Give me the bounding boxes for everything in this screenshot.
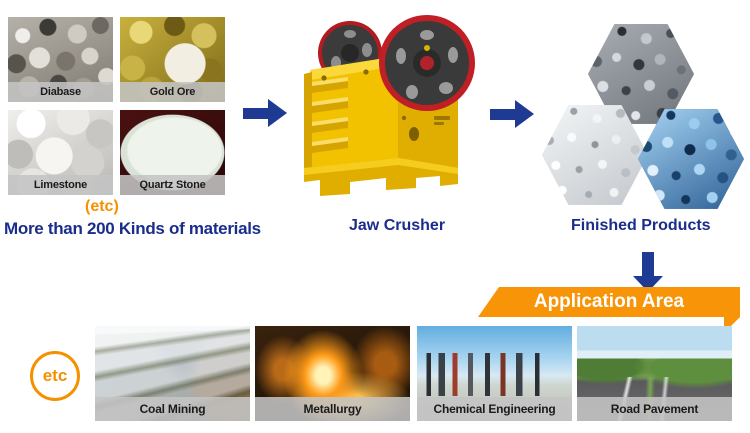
- arrow-head: [515, 100, 534, 128]
- process-flow-diagram: Diabase Gold Ore Limestone Quartz Stone …: [0, 0, 750, 433]
- application-caption-chemical-engineering: Chemical Engineering: [417, 397, 572, 421]
- application-etc-badge: etc: [30, 351, 80, 401]
- materials-etc-note: (etc): [85, 198, 119, 216]
- application-card-chemical-engineering[interactable]: Chemical Engineering: [417, 326, 572, 421]
- arrow-shaft: [243, 108, 269, 119]
- jaw-crusher-illustration: [290, 8, 490, 203]
- materials-tagline: More than 200 Kinds of materials: [4, 219, 261, 239]
- application-card-metallurgy[interactable]: Metallurgy: [255, 326, 410, 421]
- material-card-diabase[interactable]: Diabase: [8, 17, 113, 102]
- material-card-gold-ore[interactable]: Gold Ore: [120, 17, 225, 102]
- material-card-quartz-stone[interactable]: Quartz Stone: [120, 110, 225, 195]
- material-caption-gold-ore: Gold Ore: [120, 82, 225, 102]
- application-area-banner[interactable]: Application Area: [478, 287, 740, 317]
- arrow-shaft: [642, 252, 654, 278]
- application-card-road-pavement[interactable]: Road Pavement: [577, 326, 732, 421]
- application-etc-badge-label: etc: [43, 366, 68, 386]
- arrow-materials-to-crusher: [243, 99, 287, 127]
- arrow-head: [268, 99, 287, 127]
- flywheel-front: [379, 15, 475, 111]
- arrow-shaft: [490, 109, 516, 120]
- arrow-products-to-application: [633, 252, 663, 292]
- arrow-crusher-to-products: [490, 100, 534, 128]
- application-area-banner-label: Application Area: [534, 291, 684, 313]
- products-label: Finished Products: [571, 217, 711, 235]
- application-caption-metallurgy: Metallurgy: [255, 397, 410, 421]
- material-card-limestone[interactable]: Limestone: [8, 110, 113, 195]
- application-caption-road-pavement: Road Pavement: [577, 397, 732, 421]
- material-caption-limestone: Limestone: [8, 175, 113, 195]
- application-card-coal-mining[interactable]: Coal Mining: [95, 326, 250, 421]
- material-caption-diabase: Diabase: [8, 82, 113, 102]
- application-caption-coal-mining: Coal Mining: [95, 397, 250, 421]
- material-caption-quartz-stone: Quartz Stone: [120, 175, 225, 195]
- machine-label: Jaw Crusher: [349, 217, 445, 235]
